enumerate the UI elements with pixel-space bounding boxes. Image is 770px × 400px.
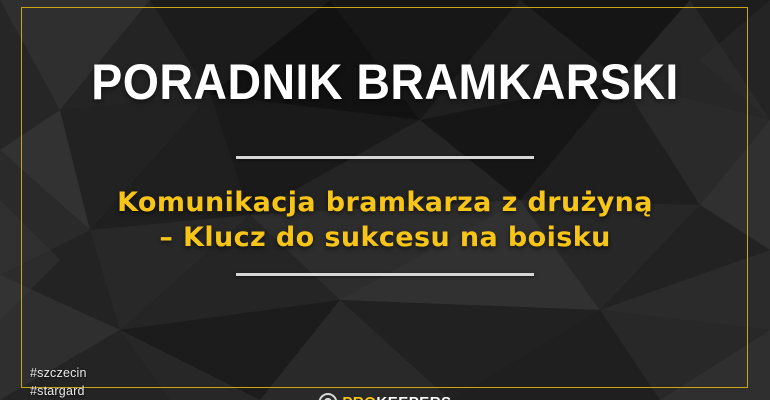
poster-canvas: PORADNIK BRAMKARSKI Komunikacja bramkarz… [0,0,770,400]
hashtag-item: #szczecin [30,364,87,382]
poster-content: PORADNIK BRAMKARSKI Komunikacja bramkarz… [0,0,770,400]
poster-subtitle: Komunikacja bramkarza z drużyną – Klucz … [0,186,770,255]
hashtag-list: #szczecin #stargard [30,364,87,400]
page-title: PORADNIK BRAMKARSKI [27,57,743,108]
hashtag-item: #stargard [30,382,87,400]
brand-logo-text-secondary: KEEPERS [376,394,451,400]
divider-above-subtitle [236,156,534,159]
divider-below-subtitle [236,273,534,276]
subtitle-line-1: Komunikacja bramkarza z drużyną [0,186,770,221]
goalkeeper-glove-icon [318,393,337,400]
brand-logo: PROKEEPERS [318,393,451,400]
brand-logo-text: PROKEEPERS [342,394,451,400]
brand-logo-text-primary: PRO [342,394,376,400]
subtitle-line-2: – Klucz do sukcesu na boisku [0,221,770,256]
